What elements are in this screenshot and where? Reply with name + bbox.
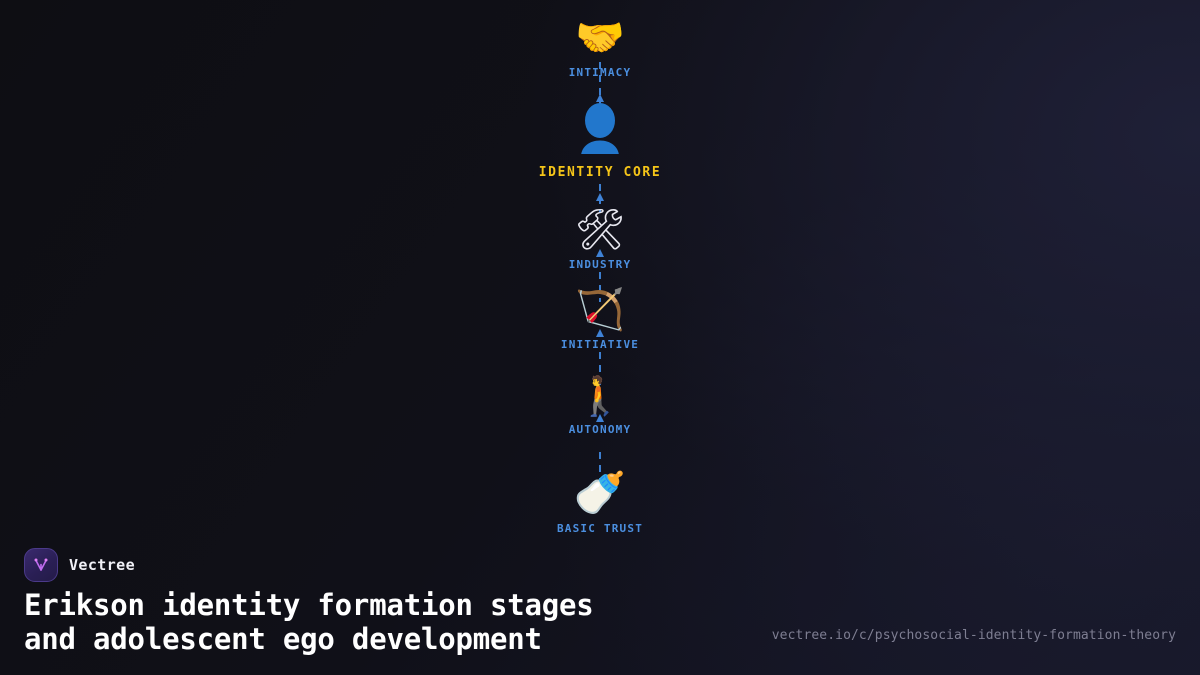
tree-node-label-intimacy: INTIMACY xyxy=(440,67,760,78)
brand-row[interactable]: Vectree xyxy=(24,548,135,582)
vectree-logo-icon xyxy=(24,548,58,582)
tree-node-industry[interactable]: 🛠 INDUSTRY xyxy=(440,210,760,270)
tree-node-label-identity-core: IDENTITY CORE xyxy=(440,166,760,179)
walking-person-icon: 🚶 xyxy=(440,377,760,415)
hammer-and-wrench-icon: 🛠 xyxy=(440,210,760,250)
bow-and-arrow-icon: 🏹 xyxy=(440,290,760,330)
handshake-icon: 🤝 xyxy=(440,18,760,58)
tree-node-identity-core[interactable]: IDENTITY CORE xyxy=(440,100,760,179)
footer: Vectree Erikson identity formation stage… xyxy=(0,540,1200,675)
tree-node-intimacy[interactable]: 🤝 INTIMACY xyxy=(440,18,760,78)
diagram-canvas: 🤝 INTIMACY IDENTITY CORE 🛠 INDUSTRY 🏹 IN… xyxy=(0,0,1200,545)
tree-node-label-initiative: INITIATIVE xyxy=(440,339,760,350)
tree-node-label-basic-trust: BASIC TRUST xyxy=(440,523,760,534)
tree-node-initiative[interactable]: 🏹 INITIATIVE xyxy=(440,290,760,350)
page-title: Erikson identity formation stages and ad… xyxy=(24,589,764,657)
person-bust-icon xyxy=(440,100,760,156)
footer-url: vectree.io/c/psychosocial-identity-forma… xyxy=(772,628,1176,643)
tree-node-label-industry: INDUSTRY xyxy=(440,259,760,270)
connector-arrow-core xyxy=(596,193,604,201)
tree-node-basic-trust[interactable]: 🍼 BASIC TRUST xyxy=(440,472,760,534)
tree-node-label-autonomy: AUTONOMY xyxy=(440,424,760,435)
brand-name: Vectree xyxy=(69,556,135,574)
tree-node-autonomy[interactable]: 🚶 AUTONOMY xyxy=(440,377,760,435)
baby-bottle-icon: 🍼 xyxy=(440,472,760,514)
